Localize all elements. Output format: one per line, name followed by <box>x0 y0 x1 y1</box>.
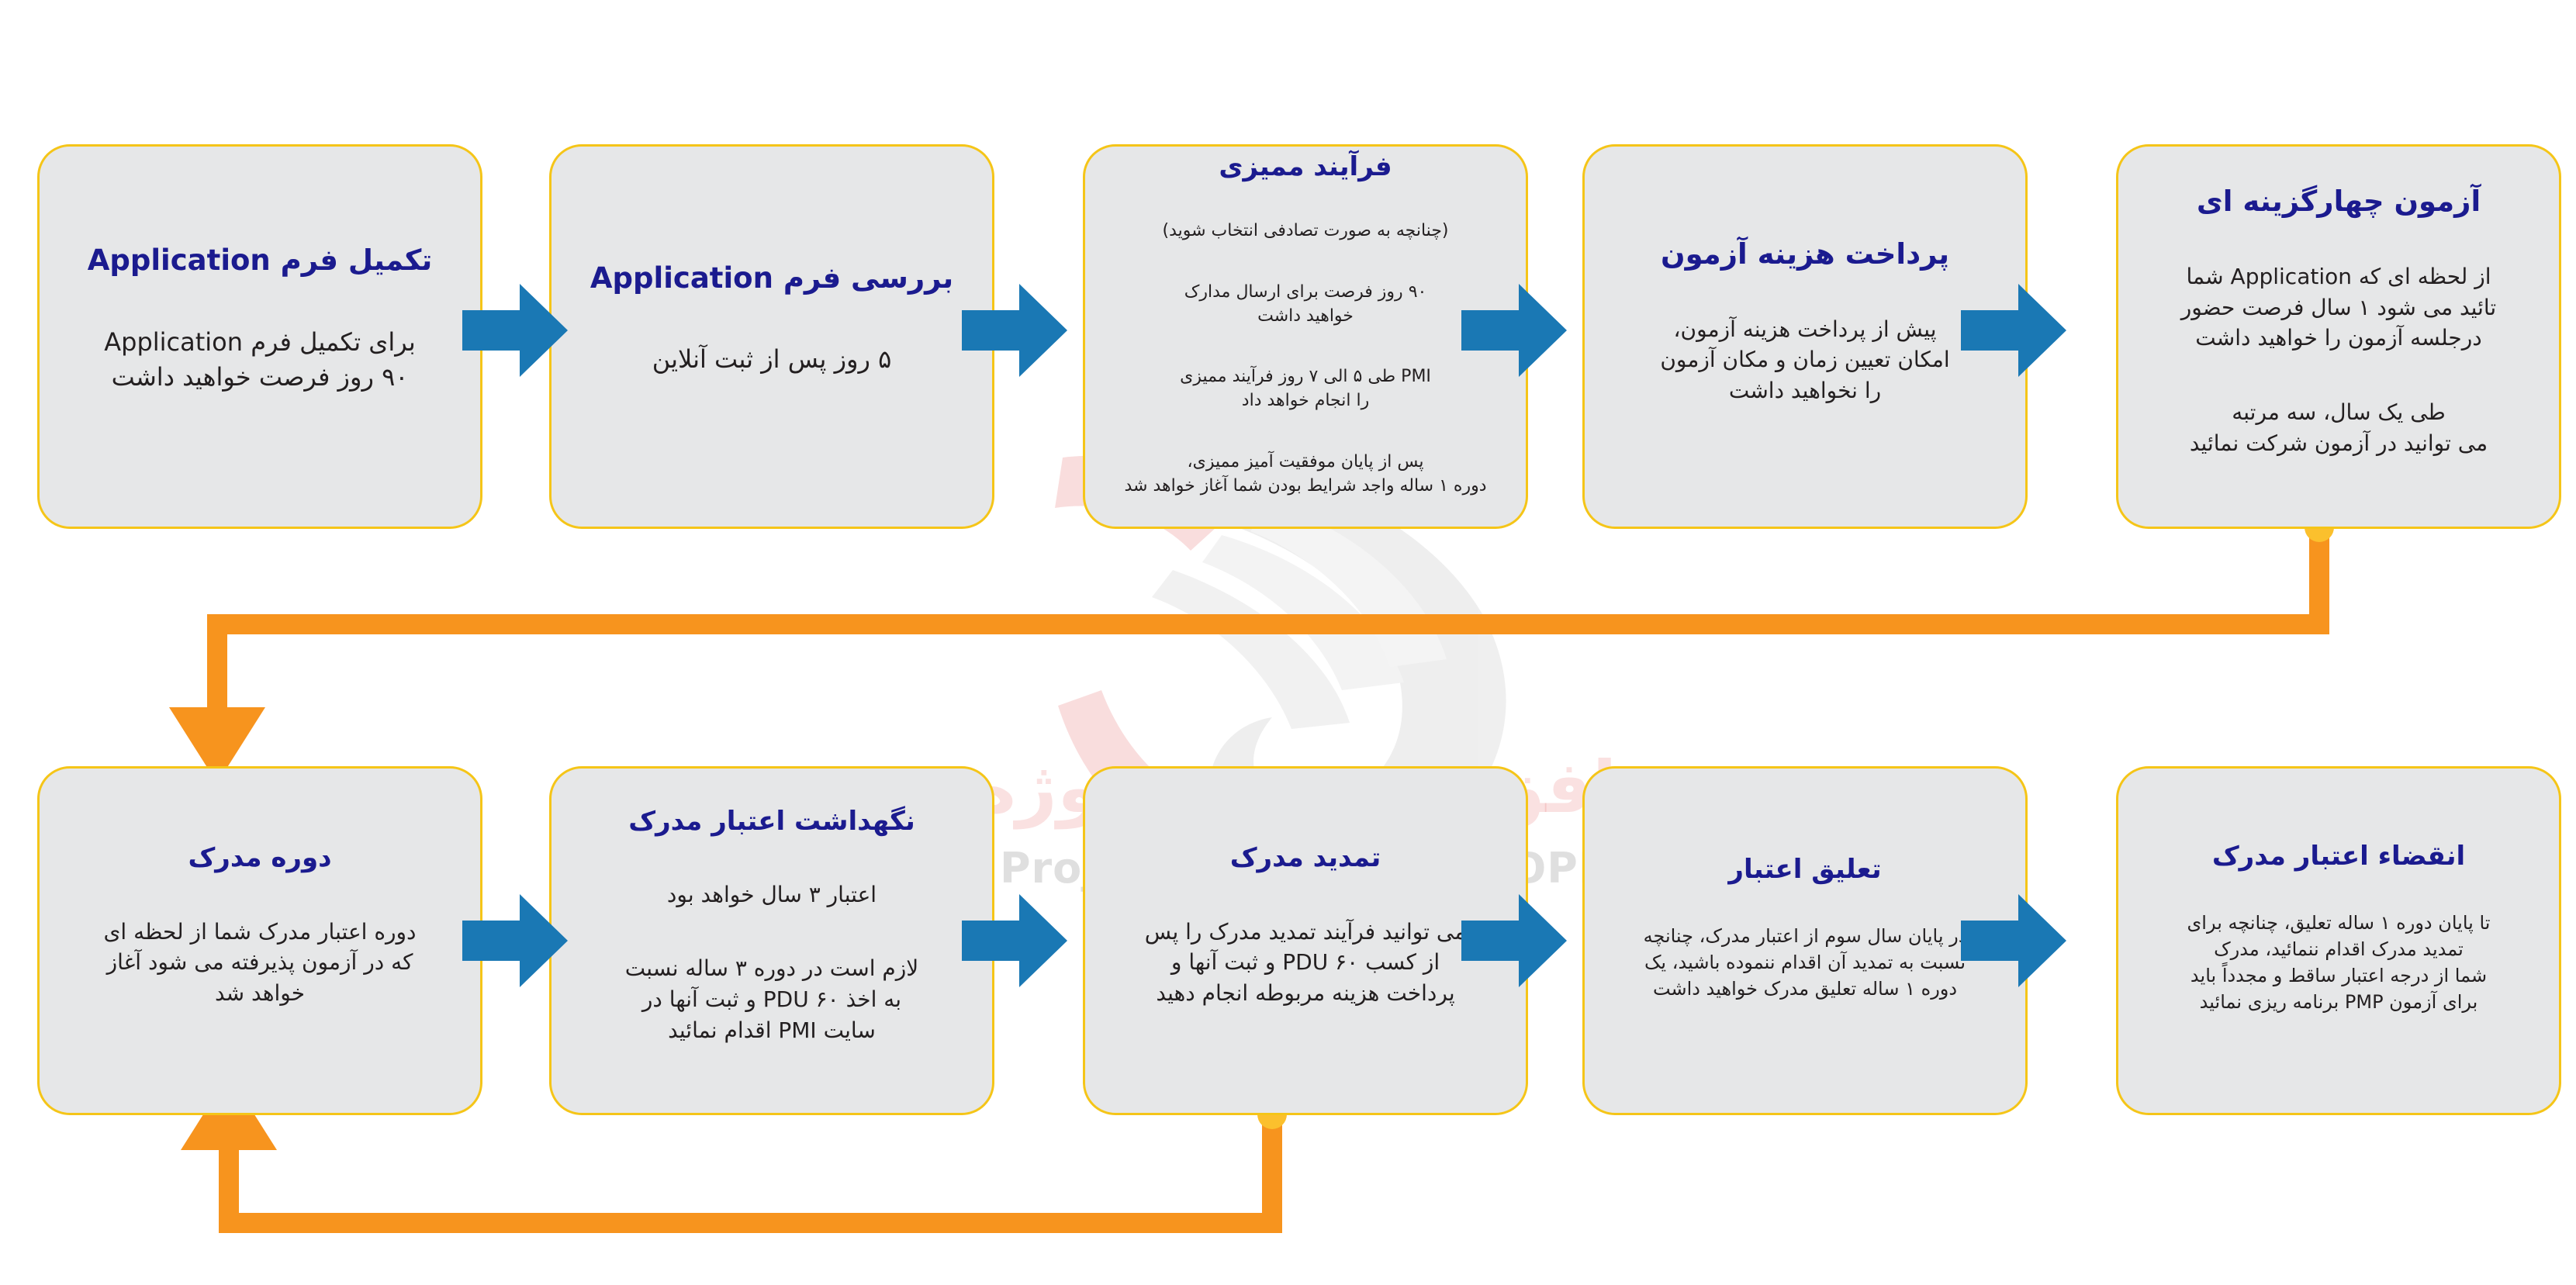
blue-arrow-bottom-3 <box>1461 894 1567 987</box>
node-title: تعلیق اعتبار <box>1728 853 1881 886</box>
node-title: فرآیند ممیزی <box>1219 150 1392 184</box>
node-title: تکمیل فرم Application <box>88 243 432 278</box>
node-credential-period[interactable]: دوره مدرک دوره اعتبار مدرک شما از لحظه ا… <box>37 766 482 1115</box>
node-paragraph: ۵ روز پس از ثبت آنلاین <box>652 342 892 377</box>
node-body: می توانید فرآیند تمدید مدرک را پس از کسب… <box>1145 886 1467 1040</box>
node-paragraph: (چنانچه به صورت تصادفی انتخاب شوید) <box>1125 219 1487 243</box>
node-body: در پایان سال سوم از اعتبار مدرک، چنانچه … <box>1644 896 1967 1028</box>
blue-arrow-top-1 <box>462 284 568 377</box>
node-title: تمدید مدرک <box>1230 841 1381 875</box>
node-body: برای تکمیل فرم Application ۹۰ روز فرصت خ… <box>104 289 416 430</box>
blue-arrow-top-2 <box>962 284 1067 377</box>
node-paragraph: لازم است در دوره ۳ ساله نسبت به اخذ ۶۰ P… <box>625 953 918 1045</box>
node-title: انقضاء اعتبار مدرک <box>2212 840 2465 873</box>
node-paragraph: پیش از پرداخت هزینه آزمون، امکان تعیین ز… <box>1660 314 1949 406</box>
node-paragraph: در پایان سال سوم از اعتبار مدرک، چنانچه … <box>1644 923 1967 1002</box>
node-credential-expiry[interactable]: انقضاء اعتبار مدرک تا پایان دوره ۱ ساله … <box>2116 766 2561 1115</box>
node-paragraph: می توانید فرآیند تمدید مدرک را پس از کسب… <box>1145 917 1467 1009</box>
node-body: از لحظه ای که Application شما تائید می ش… <box>2181 230 2496 489</box>
node-application-complete[interactable]: تکمیل فرم Application برای تکمیل فرم App… <box>37 144 482 529</box>
node-paragraph: پس از پایان موفقیت آمیز ممیزی، دوره ۱ سا… <box>1125 450 1487 498</box>
node-application-review[interactable]: بررسی فرم Application ۵ روز پس از ثبت آن… <box>549 144 994 529</box>
node-paragraph: طی یک سال، سه مرتبه می توانید در آزمون ش… <box>2181 397 2496 459</box>
node-title: بررسی فرم Application <box>590 261 953 296</box>
node-paragraph: برای تکمیل فرم Application ۹۰ روز فرصت خ… <box>104 325 416 396</box>
node-paragraph: اعتبار ۳ سال خواهد بود <box>625 879 918 910</box>
node-credential-maintenance[interactable]: نگهداشت اعتبار مدرک اعتبار ۳ سال خواهد ب… <box>549 766 994 1115</box>
node-body: پیش از پرداخت هزینه آزمون، امکان تعیین ز… <box>1660 283 1949 437</box>
node-title: نگهداشت اعتبار مدرک <box>628 805 915 838</box>
orange-connector-top-loop <box>169 513 2334 783</box>
blue-arrow-bottom-4 <box>1961 894 2066 987</box>
node-body: اعتبار ۳ سال خواهد بود لازم است در دوره … <box>625 848 918 1076</box>
node-body: (چنانچه به صورت تصادفی انتخاب شوید) ۹۰ ر… <box>1125 195 1487 523</box>
node-body: ۵ روز پس از ثبت آنلاین <box>652 307 892 413</box>
node-exam-multiple-choice[interactable]: آزمون چهارگزینه ای از لحظه ای که Applica… <box>2116 144 2561 529</box>
node-paragraph: ۹۰ روز فرصت برای ارسال مدارک خواهید داشت <box>1125 280 1487 328</box>
blue-arrow-bottom-2 <box>962 894 1067 987</box>
node-paragraph: PMI طی ۵ الی ۷ روز فرآیند ممیزی را انجام… <box>1125 364 1487 413</box>
node-title: آزمون چهارگزینه ای <box>2197 184 2481 219</box>
blue-arrow-top-3 <box>1461 284 1567 377</box>
blue-arrow-bottom-1 <box>462 894 568 987</box>
node-paragraph: از لحظه ای که Application شما تائید می ش… <box>2181 261 2496 354</box>
node-body: دوره اعتبار مدرک شما از لحظه ای که در آز… <box>103 886 416 1040</box>
node-paragraph: تا پایان دوره ۱ ساله تعلیق، چنانچه برای … <box>2187 910 2491 1015</box>
blue-arrow-top-4 <box>1961 284 2066 377</box>
node-paragraph: دوره اعتبار مدرک شما از لحظه ای که در آز… <box>103 917 416 1009</box>
node-title: پرداخت هزینه آزمون <box>1661 237 1949 272</box>
node-title: دوره مدرک <box>188 841 331 875</box>
flowchart-canvas: افق مدیریت پروژه Ofoq Project Managment … <box>0 0 2576 1285</box>
node-body: تا پایان دوره ۱ ساله تعلیق، چنانچه برای … <box>2187 883 2491 1041</box>
